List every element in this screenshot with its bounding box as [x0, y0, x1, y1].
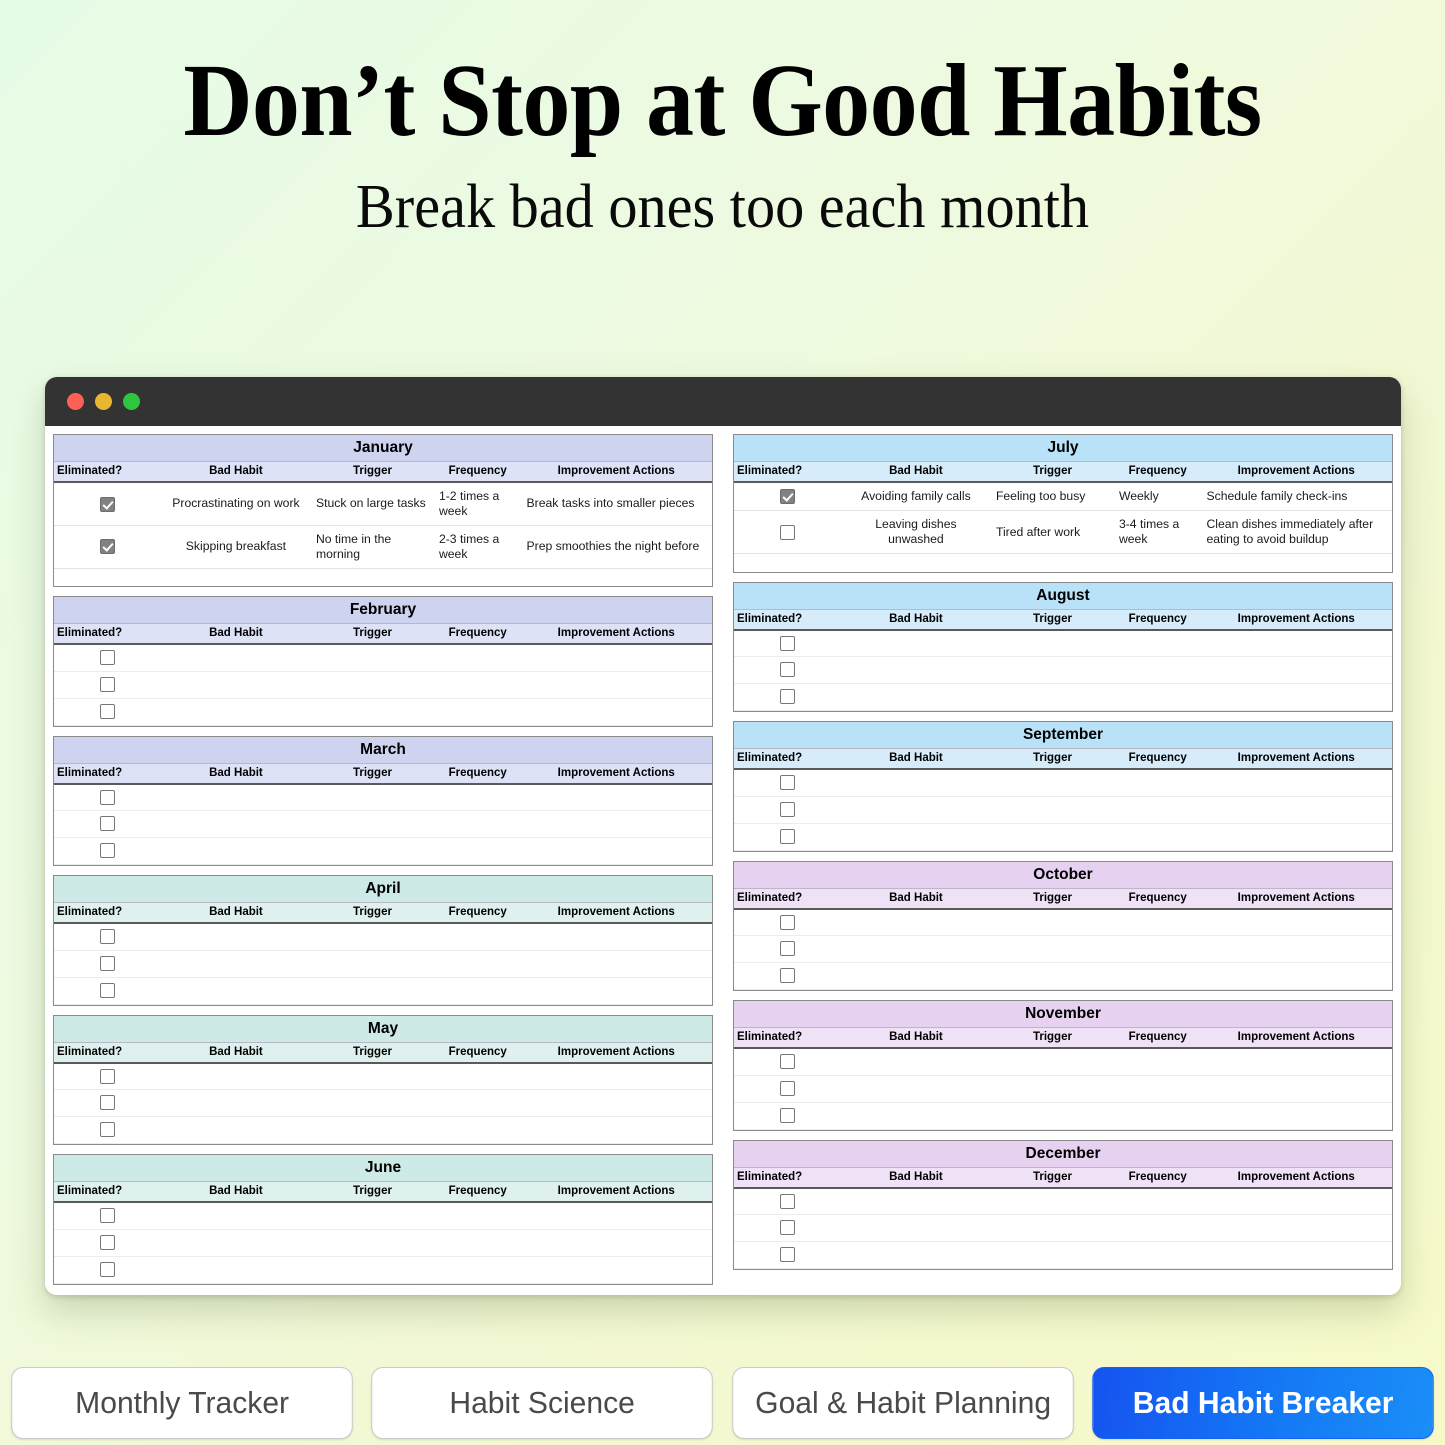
- table-row-empty[interactable]: [734, 1102, 1392, 1129]
- window-content: JanuaryEliminated?Bad HabitTriggerFreque…: [45, 426, 1401, 1295]
- table-row-empty[interactable]: [734, 936, 1392, 963]
- cell-frequency: 3-4 times a week: [1115, 511, 1201, 554]
- column-header-bad-habit: Bad Habit: [162, 1042, 310, 1063]
- cell-trigger[interactable]: [310, 1256, 435, 1283]
- cell-frequency[interactable]: [435, 977, 521, 1004]
- cell-bad-habit[interactable]: [162, 1202, 310, 1229]
- cell-bad-habit[interactable]: [162, 923, 310, 950]
- cell-improvement-actions[interactable]: [521, 1117, 713, 1144]
- cell-eliminated[interactable]: [54, 1090, 162, 1117]
- cell-improvement-actions[interactable]: [1201, 1048, 1393, 1075]
- column-header-frequency: Frequency: [1115, 888, 1201, 909]
- cell-trigger[interactable]: [310, 1229, 435, 1256]
- cell-eliminated[interactable]: [54, 698, 162, 725]
- cell-trigger[interactable]: [990, 657, 1115, 684]
- table-header-row: Eliminated?Bad HabitTriggerFrequencyImpr…: [54, 903, 712, 924]
- cell-trigger[interactable]: [310, 1063, 435, 1090]
- cell-frequency[interactable]: [1115, 823, 1201, 850]
- table-header-row: Eliminated?Bad HabitTriggerFrequencyImpr…: [734, 749, 1392, 770]
- eliminated-checkbox[interactable]: [100, 929, 115, 944]
- table-row-empty[interactable]: [734, 963, 1392, 990]
- cell-bad-habit[interactable]: [842, 1242, 990, 1269]
- table-row-empty[interactable]: [734, 657, 1392, 684]
- cell-frequency[interactable]: [1115, 769, 1201, 796]
- cell-frequency: 2-3 times a week: [435, 525, 521, 568]
- month-title: September: [734, 722, 1392, 749]
- table-row-empty[interactable]: [734, 769, 1392, 796]
- cell-eliminated[interactable]: [54, 1063, 162, 1090]
- bottom-tab-bar: Monthly TrackerHabit ScienceGoal & Habit…: [0, 1367, 1445, 1439]
- column-header-trigger: Trigger: [990, 888, 1115, 909]
- eliminated-checkbox[interactable]: [100, 677, 115, 692]
- cell-eliminated[interactable]: [54, 1202, 162, 1229]
- cell-frequency[interactable]: [435, 1063, 521, 1090]
- month-title: May: [54, 1016, 712, 1043]
- cell-improvement-actions[interactable]: [1201, 769, 1393, 796]
- cell-bad-habit[interactable]: [162, 1117, 310, 1144]
- cell-bad-habit[interactable]: [162, 698, 310, 725]
- cell-frequency[interactable]: [435, 784, 521, 811]
- table-row-empty[interactable]: [54, 1256, 712, 1283]
- cell-improvement-actions[interactable]: [521, 1202, 713, 1229]
- table-header-row: Eliminated?Bad HabitTriggerFrequencyImpr…: [54, 1042, 712, 1063]
- cell-bad-habit[interactable]: [842, 630, 990, 657]
- table-row-empty[interactable]: [54, 784, 712, 811]
- column-header-bad-habit: Bad Habit: [842, 749, 990, 770]
- cell-improvement-actions[interactable]: [521, 671, 713, 698]
- cell-bad-habit[interactable]: [162, 1256, 310, 1283]
- cell-bad-habit[interactable]: [162, 811, 310, 838]
- cell-improvement-actions[interactable]: [521, 977, 713, 1004]
- cell-bad-habit[interactable]: [842, 769, 990, 796]
- eliminated-checkbox[interactable]: [780, 802, 795, 817]
- months-column-right: JulyEliminated?Bad HabitTriggerFrequency…: [733, 434, 1393, 1285]
- cell-bad-habit[interactable]: [162, 671, 310, 698]
- table-row-empty[interactable]: [54, 644, 712, 671]
- table-row-empty[interactable]: [734, 796, 1392, 823]
- table-header-row: Eliminated?Bad HabitTriggerFrequencyImpr…: [54, 624, 712, 645]
- column-header-eliminated: Eliminated?: [734, 749, 842, 770]
- month-title: March: [54, 737, 712, 764]
- table-row-empty[interactable]: [54, 1117, 712, 1144]
- cell-bad-habit[interactable]: [842, 796, 990, 823]
- cell-improvement-actions[interactable]: [1201, 823, 1393, 850]
- table-row-empty[interactable]: [54, 1063, 712, 1090]
- eliminated-checkbox[interactable]: [780, 1247, 795, 1262]
- cell-eliminated[interactable]: [734, 511, 842, 554]
- table-row-empty[interactable]: [734, 909, 1392, 936]
- table-row-empty[interactable]: [54, 1090, 712, 1117]
- cell-eliminated[interactable]: [54, 1229, 162, 1256]
- cell-bad-habit[interactable]: [162, 784, 310, 811]
- cell-bad-habit[interactable]: [842, 1102, 990, 1129]
- cell-frequency[interactable]: [435, 950, 521, 977]
- cell-trigger[interactable]: [990, 1102, 1115, 1129]
- maximize-window-icon[interactable]: [123, 393, 140, 410]
- cell-frequency[interactable]: [435, 811, 521, 838]
- column-header-improvement-actions: Improvement Actions: [521, 763, 713, 784]
- column-header-bad-habit: Bad Habit: [842, 888, 990, 909]
- column-header-bad-habit: Bad Habit: [842, 1167, 990, 1188]
- table-row-empty[interactable]: [54, 977, 712, 1004]
- cell-bad-habit[interactable]: [842, 684, 990, 711]
- cell-improvement-actions[interactable]: [521, 923, 713, 950]
- table-row-empty[interactable]: [734, 1242, 1392, 1269]
- cell-frequency[interactable]: [1115, 909, 1201, 936]
- column-header-bad-habit: Bad Habit: [842, 1028, 990, 1049]
- table-row[interactable]: Procrastinating on workStuck on large ta…: [54, 482, 712, 525]
- column-header-frequency: Frequency: [435, 624, 521, 645]
- cell-eliminated[interactable]: [734, 909, 842, 936]
- cell-improvement-actions[interactable]: [1201, 1102, 1393, 1129]
- cell-frequency[interactable]: [1115, 1075, 1201, 1102]
- cell-trigger[interactable]: [990, 963, 1115, 990]
- eliminated-checkbox[interactable]: [100, 956, 115, 971]
- column-header-eliminated: Eliminated?: [734, 1167, 842, 1188]
- table-header-row: Eliminated?Bad HabitTriggerFrequencyImpr…: [54, 462, 712, 483]
- eliminated-checkbox[interactable]: [100, 1069, 115, 1084]
- eliminated-checkbox[interactable]: [780, 1108, 795, 1123]
- cell-frequency[interactable]: [1115, 1188, 1201, 1215]
- cell-eliminated[interactable]: [54, 838, 162, 865]
- eliminated-checkbox[interactable]: [780, 915, 795, 930]
- table-row-empty[interactable]: [54, 1229, 712, 1256]
- cell-improvement-actions[interactable]: [521, 644, 713, 671]
- cell-frequency[interactable]: [1115, 657, 1201, 684]
- cell-improvement-actions[interactable]: [1201, 1188, 1393, 1215]
- table-row-empty[interactable]: [734, 1188, 1392, 1215]
- cell-eliminated[interactable]: [54, 1117, 162, 1144]
- cell-trigger[interactable]: [310, 698, 435, 725]
- eliminated-checkbox[interactable]: [780, 636, 795, 651]
- month-card-september: SeptemberEliminated?Bad HabitTriggerFreq…: [733, 721, 1393, 852]
- cell-eliminated[interactable]: [54, 950, 162, 977]
- month-card-march: MarchEliminated?Bad HabitTriggerFrequenc…: [53, 736, 713, 867]
- column-header-frequency: Frequency: [435, 763, 521, 784]
- cell-trigger[interactable]: [310, 784, 435, 811]
- eliminated-checkbox[interactable]: [780, 489, 795, 504]
- column-header-improvement-actions: Improvement Actions: [521, 624, 713, 645]
- column-header-improvement-actions: Improvement Actions: [1201, 609, 1393, 630]
- cell-improvement-actions[interactable]: [521, 950, 713, 977]
- cell-eliminated[interactable]: [54, 923, 162, 950]
- column-header-improvement-actions: Improvement Actions: [1201, 1167, 1393, 1188]
- table-row-empty[interactable]: [734, 1075, 1392, 1102]
- cell-improvement-actions[interactable]: [521, 811, 713, 838]
- cell-improvement-actions[interactable]: [1201, 963, 1393, 990]
- cell-eliminated[interactable]: [54, 525, 162, 568]
- cell-bad-habit[interactable]: [162, 644, 310, 671]
- cell-improvement-actions: Break tasks into smaller pieces: [521, 482, 713, 525]
- eliminated-checkbox[interactable]: [780, 829, 795, 844]
- cell-trigger[interactable]: [310, 811, 435, 838]
- month-title: October: [734, 862, 1392, 889]
- cell-bad-habit[interactable]: [842, 909, 990, 936]
- cell-frequency[interactable]: [435, 1090, 521, 1117]
- cell-trigger[interactable]: [990, 1215, 1115, 1242]
- cell-trigger: No time in the morning: [310, 525, 435, 568]
- cell-bad-habit[interactable]: [162, 977, 310, 1004]
- cell-trigger[interactable]: [990, 823, 1115, 850]
- column-header-bad-habit: Bad Habit: [842, 609, 990, 630]
- cell-frequency[interactable]: [435, 1229, 521, 1256]
- cell-trigger[interactable]: [990, 630, 1115, 657]
- cell-improvement-actions[interactable]: [521, 838, 713, 865]
- tab-bad-habit-breaker[interactable]: Bad Habit Breaker: [1092, 1367, 1434, 1439]
- table-header-row: Eliminated?Bad HabitTriggerFrequencyImpr…: [734, 888, 1392, 909]
- table-row-empty[interactable]: [54, 838, 712, 865]
- month-card-february: FebruaryEliminated?Bad HabitTriggerFrequ…: [53, 596, 713, 727]
- tab-habit-science[interactable]: Habit Science: [372, 1367, 714, 1439]
- cell-frequency: Weekly: [1115, 482, 1201, 511]
- table-row-empty[interactable]: [54, 950, 712, 977]
- cell-bad-habit[interactable]: [842, 936, 990, 963]
- cell-frequency[interactable]: [435, 671, 521, 698]
- cell-improvement-actions[interactable]: [521, 1229, 713, 1256]
- cell-bad-habit[interactable]: [842, 1215, 990, 1242]
- cell-bad-habit[interactable]: [162, 950, 310, 977]
- eliminated-checkbox[interactable]: [780, 941, 795, 956]
- column-header-improvement-actions: Improvement Actions: [521, 1182, 713, 1203]
- table-row-empty[interactable]: [54, 671, 712, 698]
- cell-trigger[interactable]: [990, 909, 1115, 936]
- cell-improvement-actions[interactable]: [1201, 1215, 1393, 1242]
- cell-frequency[interactable]: [1115, 630, 1201, 657]
- cell-eliminated[interactable]: [54, 671, 162, 698]
- table-row-empty[interactable]: [54, 698, 712, 725]
- cell-improvement-actions[interactable]: [1201, 657, 1393, 684]
- cell-eliminated[interactable]: [734, 796, 842, 823]
- month-card-april: AprilEliminated?Bad HabitTriggerFrequenc…: [53, 875, 713, 1006]
- table-row-empty[interactable]: [734, 1048, 1392, 1075]
- cell-trigger[interactable]: [990, 684, 1115, 711]
- cell-eliminated[interactable]: [734, 936, 842, 963]
- eliminated-checkbox[interactable]: [780, 1194, 795, 1209]
- column-header-trigger: Trigger: [990, 1167, 1115, 1188]
- tab-monthly-tracker[interactable]: Monthly Tracker: [11, 1367, 353, 1439]
- cell-trigger[interactable]: [310, 1117, 435, 1144]
- cell-frequency[interactable]: [1115, 1215, 1201, 1242]
- eliminated-checkbox[interactable]: [100, 497, 115, 512]
- cell-eliminated[interactable]: [734, 1188, 842, 1215]
- column-header-eliminated: Eliminated?: [734, 1028, 842, 1049]
- eliminated-checkbox[interactable]: [100, 1262, 115, 1277]
- cell-improvement-actions: Schedule family check-ins: [1201, 482, 1393, 511]
- cell-eliminated[interactable]: [734, 482, 842, 511]
- cell-trigger[interactable]: [310, 644, 435, 671]
- cell-frequency[interactable]: [435, 923, 521, 950]
- table-row[interactable]: Avoiding family callsFeeling too busyWee…: [734, 482, 1392, 511]
- tab-goal-habit-planning[interactable]: Goal & Habit Planning: [732, 1367, 1074, 1439]
- table-row-empty[interactable]: [734, 1215, 1392, 1242]
- close-window-icon[interactable]: [67, 393, 84, 410]
- column-header-frequency: Frequency: [435, 462, 521, 483]
- cell-trigger[interactable]: [990, 1048, 1115, 1075]
- eliminated-checkbox[interactable]: [100, 843, 115, 858]
- cell-improvement-actions: Prep smoothies the night before: [521, 525, 713, 568]
- cell-eliminated[interactable]: [734, 1242, 842, 1269]
- eliminated-checkbox[interactable]: [780, 1081, 795, 1096]
- cell-frequency[interactable]: [435, 1202, 521, 1229]
- column-header-trigger: Trigger: [990, 1028, 1115, 1049]
- cell-trigger[interactable]: [310, 977, 435, 1004]
- cell-trigger[interactable]: [990, 769, 1115, 796]
- cell-frequency[interactable]: [1115, 1048, 1201, 1075]
- eliminated-checkbox[interactable]: [100, 983, 115, 998]
- cell-trigger[interactable]: [310, 838, 435, 865]
- month-card-june: JuneEliminated?Bad HabitTriggerFrequency…: [53, 1154, 713, 1285]
- eliminated-checkbox[interactable]: [100, 704, 115, 719]
- cell-improvement-actions[interactable]: [521, 698, 713, 725]
- column-header-eliminated: Eliminated?: [54, 1182, 162, 1203]
- cell-bad-habit[interactable]: [842, 657, 990, 684]
- eliminated-checkbox[interactable]: [100, 1095, 115, 1110]
- page-subtitle: Break bad ones too each month: [43, 173, 1401, 241]
- cell-bad-habit[interactable]: [842, 1048, 990, 1075]
- cell-eliminated[interactable]: [734, 1102, 842, 1129]
- column-header-trigger: Trigger: [310, 624, 435, 645]
- column-header-bad-habit: Bad Habit: [162, 903, 310, 924]
- cell-frequency[interactable]: [435, 838, 521, 865]
- column-header-improvement-actions: Improvement Actions: [521, 1042, 713, 1063]
- cell-frequency[interactable]: [435, 698, 521, 725]
- cell-frequency[interactable]: [1115, 796, 1201, 823]
- table-row-empty[interactable]: [54, 1202, 712, 1229]
- minimize-window-icon[interactable]: [95, 393, 112, 410]
- eliminated-checkbox[interactable]: [780, 662, 795, 677]
- cell-trigger[interactable]: [990, 936, 1115, 963]
- cell-bad-habit[interactable]: [842, 963, 990, 990]
- cell-bad-habit[interactable]: [162, 1229, 310, 1256]
- cell-improvement-actions[interactable]: [521, 1256, 713, 1283]
- column-header-trigger: Trigger: [990, 462, 1115, 483]
- cell-eliminated[interactable]: [734, 823, 842, 850]
- cell-improvement-actions[interactable]: [1201, 909, 1393, 936]
- cell-frequency[interactable]: [1115, 936, 1201, 963]
- cell-trigger: Stuck on large tasks: [310, 482, 435, 525]
- eliminated-checkbox[interactable]: [780, 689, 795, 704]
- cell-eliminated[interactable]: [734, 963, 842, 990]
- cell-eliminated[interactable]: [734, 1215, 842, 1242]
- column-header-trigger: Trigger: [310, 1042, 435, 1063]
- eliminated-checkbox[interactable]: [100, 1122, 115, 1137]
- eliminated-checkbox[interactable]: [100, 1235, 115, 1250]
- month-card-july: JulyEliminated?Bad HabitTriggerFrequency…: [733, 434, 1393, 573]
- column-header-eliminated: Eliminated?: [54, 903, 162, 924]
- table-row-empty[interactable]: [54, 811, 712, 838]
- cell-frequency[interactable]: [435, 644, 521, 671]
- cell-trigger[interactable]: [990, 1188, 1115, 1215]
- cell-bad-habit[interactable]: [162, 1090, 310, 1117]
- eliminated-checkbox[interactable]: [780, 968, 795, 983]
- table-row-empty[interactable]: [734, 630, 1392, 657]
- eliminated-checkbox[interactable]: [780, 525, 795, 540]
- cell-trigger[interactable]: [990, 1242, 1115, 1269]
- cell-eliminated[interactable]: [734, 1075, 842, 1102]
- cell-eliminated[interactable]: [54, 784, 162, 811]
- months-column-left: JanuaryEliminated?Bad HabitTriggerFreque…: [53, 434, 713, 1285]
- cell-improvement-actions[interactable]: [521, 784, 713, 811]
- column-header-improvement-actions: Improvement Actions: [1201, 1028, 1393, 1049]
- cell-frequency[interactable]: [1115, 963, 1201, 990]
- month-title: November: [734, 1001, 1392, 1028]
- column-header-bad-habit: Bad Habit: [162, 1182, 310, 1203]
- eliminated-checkbox[interactable]: [780, 775, 795, 790]
- cell-bad-habit[interactable]: [162, 1063, 310, 1090]
- cell-trigger[interactable]: [310, 923, 435, 950]
- table-row-spacer: [54, 568, 712, 586]
- cell-improvement-actions[interactable]: [1201, 1242, 1393, 1269]
- column-header-frequency: Frequency: [1115, 609, 1201, 630]
- cell-improvement-actions[interactable]: [521, 1063, 713, 1090]
- eliminated-checkbox[interactable]: [100, 539, 115, 554]
- cell-frequency[interactable]: [435, 1256, 521, 1283]
- column-header-frequency: Frequency: [435, 1182, 521, 1203]
- table-row[interactable]: Leaving dishes unwashedTired after work3…: [734, 511, 1392, 554]
- cell-eliminated[interactable]: [54, 644, 162, 671]
- month-title: July: [734, 435, 1392, 462]
- cell-eliminated[interactable]: [734, 630, 842, 657]
- eliminated-checkbox[interactable]: [100, 650, 115, 665]
- cell-trigger[interactable]: [990, 1075, 1115, 1102]
- cell-frequency[interactable]: [1115, 684, 1201, 711]
- cell-eliminated[interactable]: [54, 977, 162, 1004]
- cell-improvement-actions[interactable]: [1201, 630, 1393, 657]
- table-row-empty[interactable]: [54, 923, 712, 950]
- eliminated-checkbox[interactable]: [100, 790, 115, 805]
- cell-improvement-actions[interactable]: [521, 1090, 713, 1117]
- cell-improvement-actions[interactable]: [1201, 796, 1393, 823]
- month-title: February: [54, 597, 712, 624]
- cell-bad-habit[interactable]: [842, 1075, 990, 1102]
- table-row[interactable]: Skipping breakfastNo time in the morning…: [54, 525, 712, 568]
- cell-improvement-actions[interactable]: [1201, 1075, 1393, 1102]
- cell-eliminated[interactable]: [54, 811, 162, 838]
- cell-frequency[interactable]: [1115, 1102, 1201, 1129]
- cell-trigger[interactable]: [310, 950, 435, 977]
- cell-bad-habit[interactable]: [842, 1188, 990, 1215]
- column-header-trigger: Trigger: [310, 763, 435, 784]
- cell-eliminated[interactable]: [54, 482, 162, 525]
- cell-eliminated[interactable]: [734, 1048, 842, 1075]
- eliminated-checkbox[interactable]: [780, 1054, 795, 1069]
- cell-trigger[interactable]: [990, 796, 1115, 823]
- cell-eliminated[interactable]: [54, 1256, 162, 1283]
- cell-trigger[interactable]: [310, 671, 435, 698]
- cell-bad-habit: Skipping breakfast: [162, 525, 310, 568]
- cell-trigger[interactable]: [310, 1202, 435, 1229]
- eliminated-checkbox[interactable]: [100, 1208, 115, 1223]
- eliminated-checkbox[interactable]: [100, 816, 115, 831]
- cell-improvement-actions[interactable]: [1201, 936, 1393, 963]
- cell-eliminated[interactable]: [734, 769, 842, 796]
- cell-eliminated[interactable]: [734, 657, 842, 684]
- cell-eliminated[interactable]: [734, 684, 842, 711]
- cell-frequency[interactable]: [1115, 1242, 1201, 1269]
- column-header-eliminated: Eliminated?: [54, 624, 162, 645]
- table-row-empty[interactable]: [734, 684, 1392, 711]
- cell-bad-habit[interactable]: [842, 823, 990, 850]
- cell-improvement-actions[interactable]: [1201, 684, 1393, 711]
- month-card-december: DecemberEliminated?Bad HabitTriggerFrequ…: [733, 1140, 1393, 1271]
- cell-trigger[interactable]: [310, 1090, 435, 1117]
- eliminated-checkbox[interactable]: [780, 1220, 795, 1235]
- table-row-empty[interactable]: [734, 823, 1392, 850]
- cell-bad-habit[interactable]: [162, 838, 310, 865]
- cell-frequency[interactable]: [435, 1117, 521, 1144]
- column-header-eliminated: Eliminated?: [734, 462, 842, 483]
- month-title: December: [734, 1141, 1392, 1168]
